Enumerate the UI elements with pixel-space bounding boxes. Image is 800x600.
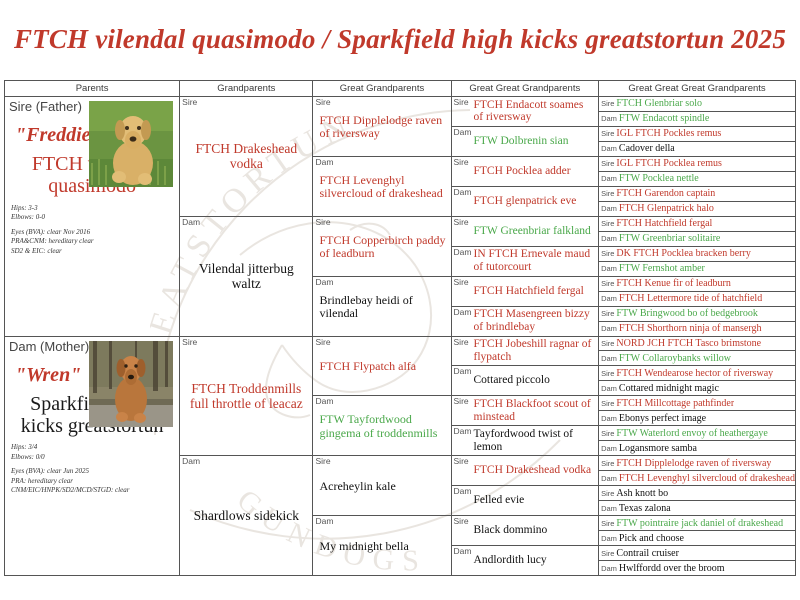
role-label: Sire xyxy=(599,399,614,408)
pedigree-cell[interactable]: SireFTCH Troddenmills full throttle of l… xyxy=(180,337,312,457)
sire-pra-cnm: PRA&CNM: hereditary clear xyxy=(11,237,175,246)
dam-eyes: Eyes (BVA): clear Jun 2025 xyxy=(11,467,175,476)
pedigree-cell[interactable]: DamCottared piccolo xyxy=(452,366,599,396)
dog-name: FTCH Wendearose hector of riversway xyxy=(614,368,773,379)
pedigree-cell[interactable]: DamBrindlebay heidi of vilendal xyxy=(313,277,450,337)
role-label: Sire xyxy=(599,309,614,318)
role-label: Dam xyxy=(315,396,333,407)
parent-cell-sire[interactable]: Sire (Father) xyxy=(5,97,179,337)
column-great-great-great-grandparents: Great Great Great Grandparents SireFTCH … xyxy=(599,81,795,575)
pedigree-cell[interactable]: DamFTCH Masengreen bizzy of brindlebay xyxy=(452,307,599,337)
sire-sd2-eic: SD2 & EIC: clear xyxy=(11,247,175,256)
pedigree-row[interactable]: SireFTCH Glenbriar solo xyxy=(599,97,795,112)
cell-content: FTCH Troddenmills full throttle of leaca… xyxy=(180,337,312,456)
cell-content: Andlordith lucy xyxy=(452,546,599,575)
pedigree-row[interactable]: DamFTW Fernshot amber xyxy=(599,262,795,277)
pedigree-cell[interactable]: DamFTCH Levenghyl silvercloud of drakesh… xyxy=(313,157,450,217)
dog-name: FTCH Flypatch alfa xyxy=(313,358,420,373)
pedigree-row[interactable]: DamPick and choose xyxy=(599,531,795,546)
pedigree-cell[interactable]: DamFelled evie xyxy=(452,486,599,516)
role-label: Sire xyxy=(454,217,469,228)
pedigree-row[interactable]: DamCottared midnight magic xyxy=(599,381,795,396)
pedigree-cell[interactable]: SireBlack dommino xyxy=(452,516,599,546)
role-label: Dam xyxy=(454,307,472,318)
role-label: Sire xyxy=(454,97,469,108)
pedigree-row[interactable]: SireIGL FTCH Pockles remus xyxy=(599,127,795,142)
dog-name: Hwlffordd over the broom xyxy=(617,563,725,574)
great-grandparents-cells: SireFTCH Dipplelodge raven of riverswayD… xyxy=(313,97,450,575)
cell-content: FTW Greenbriar falkland xyxy=(452,217,599,246)
dog-name: Pick and choose xyxy=(617,533,684,544)
pedigree-table: Parents Sire (Father) xyxy=(4,80,796,576)
role-label: Dam xyxy=(599,444,617,453)
pedigree-row[interactable]: DamFTW Greenbriar solitaire xyxy=(599,232,795,247)
cell-content: FTCH Levenghyl silvercloud of drakeshead xyxy=(313,157,450,216)
pedigree-row[interactable]: SireFTW Bringwood bo of bedgebrook xyxy=(599,307,795,322)
role-label: Dam xyxy=(599,384,617,393)
role-label: Sire xyxy=(454,277,469,288)
dog-name: Contrail cruiser xyxy=(614,548,678,559)
dog-name: FTW Greenbriar solitaire xyxy=(617,233,720,244)
dog-name: FTW Bringwood bo of bedgebrook xyxy=(614,308,757,319)
role-label: Dam xyxy=(315,516,333,527)
role-label: Dam xyxy=(599,234,617,243)
role-label: Dam xyxy=(315,277,333,288)
cell-content: FTCH Drakeshead vodka xyxy=(180,97,312,216)
dog-name: FTCH Shorthorn ninja of mansergh xyxy=(617,323,762,334)
sire-health-details: Hips: 3-3 Elbows: 0-0 Eyes (BVA): clear … xyxy=(11,204,175,256)
role-label: Dam xyxy=(454,546,472,557)
dog-name: IGL FTCH Pockles remus xyxy=(614,128,721,139)
pedigree-row[interactable]: SireAsh knott bo xyxy=(599,486,795,501)
dog-name: FTW Fernshot amber xyxy=(617,263,705,274)
cell-content: FTCH Flypatch alfa xyxy=(313,337,450,396)
dam-hips: Hips: 3/4 xyxy=(11,443,175,452)
dog-name: FTCH Hatchfield fergal xyxy=(614,218,712,229)
dog-name: FTCH Millcottage pathfinder xyxy=(614,398,734,409)
pedigree-row[interactable]: DamLogansmore samba xyxy=(599,441,795,456)
dog-name: Shardlows sidekick xyxy=(188,508,305,523)
dog-name: FTW Greenbriar falkland xyxy=(452,225,595,238)
role-label: Dam xyxy=(315,157,333,168)
pedigree-row[interactable]: DamFTCH Shorthorn ninja of mansergh xyxy=(599,322,795,337)
role-label: Dam xyxy=(454,366,472,377)
dog-name: FTW Waterlord envoy of heathergaye xyxy=(614,428,767,439)
role-label: Dam xyxy=(182,217,200,228)
role-label: Dam xyxy=(599,324,617,333)
cell-content: FTCH Jobeshill ragnar of flypatch xyxy=(452,337,599,366)
pedigree-cell[interactable]: DamAndlordith lucy xyxy=(452,546,599,575)
pedigree-row[interactable]: DamFTW Endacott spindle xyxy=(599,112,795,127)
pedigree-row[interactable]: DamFTCH Glenpatrick halo xyxy=(599,202,795,217)
dog-name: FTCH Jobeshill ragnar of flypatch xyxy=(452,338,599,364)
role-label: Dam xyxy=(599,564,617,573)
dog-name: Cadover della xyxy=(617,143,675,154)
dog-name: Tayfordwood twist of lemon xyxy=(452,428,599,454)
dam-photo xyxy=(89,341,173,427)
great-great-great-grandparents-cells: SireFTCH Glenbriar soloDamFTW Endacott s… xyxy=(599,97,795,575)
header-great-great-grandparents: Great Great Grandparents xyxy=(452,81,599,97)
role-label: Sire xyxy=(599,279,614,288)
dog-name: Cottared midnight magic xyxy=(617,383,719,394)
dog-name: FTCH Masengreen bizzy of brindlebay xyxy=(452,308,599,334)
dog-name: FTCH Kenue fir of leadburn xyxy=(614,278,730,289)
cell-content: Black dommino xyxy=(452,516,599,545)
cell-content: FTCH Endacott soames of riversway xyxy=(452,97,599,126)
dog-name: Vilendal jitterbug waltz xyxy=(180,261,312,291)
pedigree-cell[interactable]: SireFTCH Pocklea adder xyxy=(452,157,599,187)
dog-name: FTW Collaroybanks willow xyxy=(617,353,731,364)
pedigree-row[interactable]: DamHwlffordd over the broom xyxy=(599,561,795,575)
pedigree-row[interactable]: DamCadover della xyxy=(599,142,795,157)
pedigree-cell[interactable]: SireFTCH Jobeshill ragnar of flypatch xyxy=(452,337,599,367)
dog-name: FTW Endacott spindle xyxy=(617,113,709,124)
dog-name: Ebonys perfect image xyxy=(617,413,706,424)
pedigree-cell[interactable]: DamIN FTCH Ernevale maud of tutorcourt xyxy=(452,247,599,277)
dog-name: FTCH Drakeshead vodka xyxy=(180,141,312,171)
role-label: Dam xyxy=(182,456,200,467)
role-label: Sire xyxy=(599,459,614,468)
role-label: Sire xyxy=(599,489,614,498)
dog-name: Logansmore samba xyxy=(617,443,697,454)
dog-name: FTW Tayfordwood gingema of troddenmills xyxy=(313,411,450,440)
pedigree-cell[interactable]: DamVilendal jitterbug waltz xyxy=(180,217,312,337)
role-label: Sire xyxy=(315,337,330,348)
pedigree-cell[interactable]: SireFTCH Endacott soames of riversway xyxy=(452,97,599,127)
dog-name: FTCH Dipplelodge raven of riversway xyxy=(313,112,450,141)
column-great-great-grandparents: Great Great Grandparents SireFTCH Endaco… xyxy=(452,81,600,575)
yellow-labrador-photo xyxy=(89,101,173,187)
dog-name: FTCH Levenghyl silvercloud of drakeshead xyxy=(617,473,795,484)
dog-name: FTCH Endacott soames of riversway xyxy=(452,99,599,125)
pedigree-cell[interactable]: DamTayfordwood twist of lemon xyxy=(452,426,599,456)
dog-name: My midnight bella xyxy=(313,538,412,553)
role-label: Sire xyxy=(599,159,614,168)
pedigree-row[interactable]: SireFTCH Wendearose hector of riversway xyxy=(599,366,795,381)
pedigree-row[interactable]: DamEbonys perfect image xyxy=(599,411,795,426)
dog-name: DK FTCH Pocklea bracken berry xyxy=(614,248,750,259)
role-label: Sire xyxy=(315,97,330,108)
pedigree-cell[interactable]: DamFTCH glenpatrick eve xyxy=(452,187,599,217)
dog-name: FTCH Hatchfield fergal xyxy=(452,285,588,298)
pedigree-cell[interactable]: DamFTW Dolbrenin sian xyxy=(452,127,599,157)
dam-elbows: Elbows: 0/0 xyxy=(11,453,175,462)
grandparents-cells: SireFTCH Drakeshead vodkaDamVilendal jit… xyxy=(180,97,312,575)
dam-pra: PRA: hereditary clear xyxy=(11,477,175,486)
pedigree-row[interactable]: SireDK FTCH Pocklea bracken berry xyxy=(599,247,795,262)
pedigree-row[interactable]: DamTexas zalona xyxy=(599,501,795,516)
great-great-grandparents-cells: SireFTCH Endacott soames of riverswayDam… xyxy=(452,97,599,575)
role-label: Dam xyxy=(599,354,617,363)
role-label: Sire xyxy=(599,369,614,378)
pedigree-row[interactable]: DamFTW Pocklea nettle xyxy=(599,172,795,187)
pedigree-row[interactable]: SireNORD JCH FTCH Tasco brimstone xyxy=(599,337,795,352)
header-great-great-great-grandparents: Great Great Great Grandparents xyxy=(599,81,795,97)
cell-content: FTW Dolbrenin sian xyxy=(452,127,599,156)
role-label: Sire xyxy=(454,516,469,527)
role-label: Sire xyxy=(182,97,197,108)
role-label: Sire xyxy=(599,549,614,558)
role-label: Dam xyxy=(599,294,617,303)
fox-red-labrador-photo xyxy=(89,341,173,427)
cell-content: Acreheylin kale xyxy=(313,456,450,515)
role-label: Dam xyxy=(599,534,617,543)
role-label: Sire xyxy=(599,429,614,438)
cell-content: FTCH Drakeshead vodka xyxy=(452,456,599,485)
dog-name: FTCH Copperbirch paddy of leadburn xyxy=(313,232,450,261)
role-label: Sire xyxy=(315,217,330,228)
dog-name: FTCH Troddenmills full throttle of leaca… xyxy=(180,381,312,411)
dog-name: FTCH Glenpatrick halo xyxy=(617,203,714,214)
parents-cells: Sire (Father) xyxy=(5,97,179,575)
pedigree-cell[interactable]: SireFTCH Drakeshead vodka xyxy=(452,456,599,486)
dog-name: FTW pointraire jack daniel of drakeshead xyxy=(614,518,783,529)
cell-content: Shardlows sidekick xyxy=(180,456,312,575)
role-label: Sire xyxy=(599,339,614,348)
role-label: Sire xyxy=(599,189,614,198)
dog-name: FTCH Glenbriar solo xyxy=(614,98,702,109)
cell-content: FTCH Copperbirch paddy of leadburn xyxy=(313,217,450,276)
dog-name: FTCH Dipplelodge raven of riversway xyxy=(614,458,771,469)
role-label: Sire xyxy=(599,519,614,528)
pedigree-row[interactable]: SireFTCH Dipplelodge raven of riversway xyxy=(599,456,795,471)
dam-panel: CNM/EIC/HNPK/SD2/MCD/STGD: clear xyxy=(11,486,175,495)
pedigree-row[interactable]: SireFTW pointraire jack daniel of drakes… xyxy=(599,516,795,531)
dam-health-details: Hips: 3/4 Elbows: 0/0 Eyes (BVA): clear … xyxy=(11,443,175,495)
role-label: Dam xyxy=(599,414,617,423)
cell-content: FTCH Masengreen bizzy of brindlebay xyxy=(452,307,599,336)
parent-cell-dam[interactable]: Dam (Mother) xyxy=(5,337,179,576)
role-label: Sire xyxy=(599,249,614,258)
dog-name: FTCH Blackfoot scout of minstead xyxy=(452,398,599,424)
cell-content: FTW Tayfordwood gingema of troddenmills xyxy=(313,396,450,455)
pedigree-cell[interactable]: SireAcreheylin kale xyxy=(313,456,450,516)
pedigree-page: FTCH vilendal quasimodo / Sparkfield hig… xyxy=(0,0,800,600)
cell-content: FTCH Dipplelodge raven of riversway xyxy=(313,97,450,156)
dog-name: Brindlebay heidi of vilendal xyxy=(313,292,450,321)
role-label: Sire xyxy=(454,157,469,168)
pedigree-row[interactable]: SireFTCH Garendon captain xyxy=(599,187,795,202)
pedigree-cell[interactable]: SireFTCH Hatchfield fergal xyxy=(452,277,599,307)
role-label: Sire xyxy=(599,129,614,138)
column-great-grandparents: Great Grandparents SireFTCH Dipplelodge … xyxy=(313,81,451,575)
role-label: Dam xyxy=(599,504,617,513)
dog-name: FTCH Garendon captain xyxy=(614,188,715,199)
pedigree-row[interactable]: SireFTCH Millcottage pathfinder xyxy=(599,396,795,411)
role-label: Sire xyxy=(454,456,469,467)
page-title: FTCH vilendal quasimodo / Sparkfield hig… xyxy=(0,24,800,55)
pedigree-row[interactable]: DamFTCH Levenghyl silvercloud of drakesh… xyxy=(599,471,795,486)
dog-name: NORD JCH FTCH Tasco brimstone xyxy=(614,338,761,349)
role-label: Dam xyxy=(454,426,472,437)
sire-photo xyxy=(89,101,173,187)
dog-name: FTCH Pocklea adder xyxy=(452,165,575,178)
role-label: Sire xyxy=(454,396,469,407)
role-label: Dam xyxy=(599,114,617,123)
dog-name: IN FTCH Ernevale maud of tutorcourt xyxy=(452,248,599,274)
cell-content: FTCH Blackfoot scout of minstead xyxy=(452,396,599,425)
pedigree-cell[interactable]: SireFTCH Dipplelodge raven of riversway xyxy=(313,97,450,157)
dog-name: Ash knott bo xyxy=(614,488,668,499)
cell-content: Tayfordwood twist of lemon xyxy=(452,426,599,455)
pedigree-cell[interactable]: SireFTW Greenbriar falkland xyxy=(452,217,599,247)
cell-content: FTCH Pocklea adder xyxy=(452,157,599,186)
pedigree-row[interactable]: SireContrail cruiser xyxy=(599,546,795,561)
role-label: Dam xyxy=(599,144,617,153)
dog-name: IGL FTCH Pocklea remus xyxy=(614,158,721,169)
pedigree-row[interactable]: SireFTCH Hatchfield fergal xyxy=(599,217,795,232)
role-label: Sire xyxy=(599,99,614,108)
pedigree-cell[interactable]: DamFTW Tayfordwood gingema of troddenmil… xyxy=(313,396,450,456)
pedigree-row[interactable]: SireFTCH Kenue fir of leadburn xyxy=(599,277,795,292)
pedigree-cell[interactable]: DamMy midnight bella xyxy=(313,516,450,575)
role-label: Dam xyxy=(454,187,472,198)
role-label: Sire xyxy=(182,337,197,348)
dog-name: FTW Pocklea nettle xyxy=(617,173,699,184)
pedigree-cell[interactable]: DamShardlows sidekick xyxy=(180,456,312,575)
cell-content: Cottared piccolo xyxy=(452,366,599,395)
dog-name: Texas zalona xyxy=(617,503,671,514)
role-label: Dam xyxy=(599,174,617,183)
role-label: Dam xyxy=(599,204,617,213)
cell-content: FTCH glenpatrick eve xyxy=(452,187,599,216)
header-parents: Parents xyxy=(5,81,179,97)
cell-content: Vilendal jitterbug waltz xyxy=(180,217,312,336)
role-label: Sire xyxy=(454,337,469,348)
pedigree-cell[interactable]: SireFTCH Copperbirch paddy of leadburn xyxy=(313,217,450,277)
pedigree-row[interactable]: SireIGL FTCH Pocklea remus xyxy=(599,157,795,172)
cell-content: Felled evie xyxy=(452,486,599,515)
role-label: Dam xyxy=(454,486,472,497)
pedigree-cell[interactable]: SireFTCH Drakeshead vodka xyxy=(180,97,312,217)
pedigree-cell[interactable]: SireFTCH Flypatch alfa xyxy=(313,337,450,397)
cell-content: My midnight bella xyxy=(313,516,450,575)
pedigree-row[interactable]: SireFTW Waterlord envoy of heathergaye xyxy=(599,426,795,441)
cell-content: Brindlebay heidi of vilendal xyxy=(313,277,450,336)
pedigree-cell[interactable]: SireFTCH Blackfoot scout of minstead xyxy=(452,396,599,426)
sire-eyes: Eyes (BVA): clear Nov 2016 xyxy=(11,228,175,237)
dog-name: FTCH Levenghyl silvercloud of drakeshead xyxy=(313,172,450,201)
role-label: Dam xyxy=(454,127,472,138)
role-label: Sire xyxy=(315,456,330,467)
sire-hips: Hips: 3-3 xyxy=(11,204,175,213)
cell-content: FTCH Hatchfield fergal xyxy=(452,277,599,306)
role-label: Dam xyxy=(599,264,617,273)
dog-name: FTCH Drakeshead vodka xyxy=(452,464,596,477)
dog-name: FTCH Lettermore tide of hatchfield xyxy=(617,293,762,304)
column-parents: Parents Sire (Father) xyxy=(5,81,180,575)
pedigree-row[interactable]: DamFTCH Lettermore tide of hatchfield xyxy=(599,292,795,307)
pedigree-row[interactable]: DamFTW Collaroybanks willow xyxy=(599,351,795,366)
role-label: Sire xyxy=(599,219,614,228)
sire-elbows: Elbows: 0-0 xyxy=(11,213,175,222)
column-grandparents: Grandparents SireFTCH Drakeshead vodkaDa… xyxy=(180,81,313,575)
dog-name: Acreheylin kale xyxy=(313,478,399,493)
role-label: Dam xyxy=(454,247,472,258)
header-great-grandparents: Great Grandparents xyxy=(313,81,450,97)
header-grandparents: Grandparents xyxy=(180,81,312,97)
role-label: Dam xyxy=(599,474,617,483)
cell-content: IN FTCH Ernevale maud of tutorcourt xyxy=(452,247,599,276)
